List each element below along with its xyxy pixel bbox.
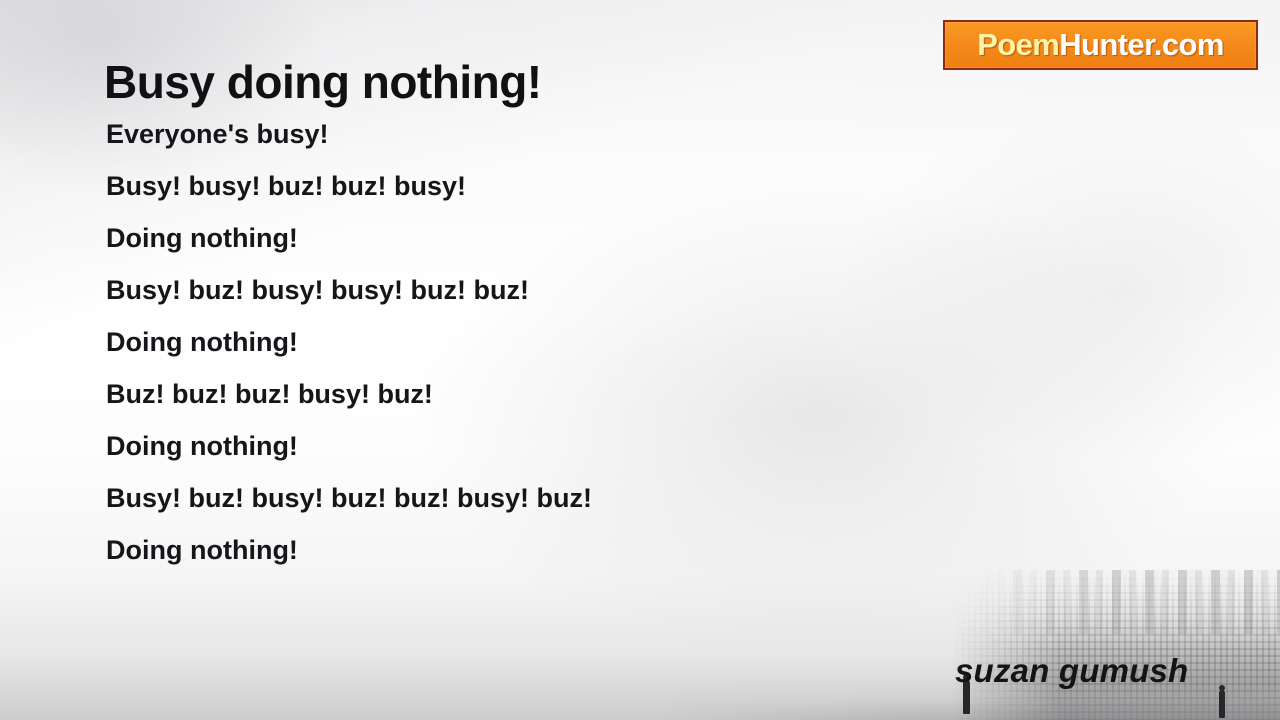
- poem-line: Doing nothing!: [106, 420, 866, 472]
- poem-line: Doing nothing!: [106, 524, 866, 576]
- poem-line: Busy! buz! busy! buz! buz! busy! buz!: [106, 472, 866, 524]
- poem-body: Everyone's busy! Busy! busy! buz! buz! b…: [106, 108, 866, 576]
- poem-line: Busy! buz! busy! busy! buz! buz!: [106, 264, 866, 316]
- poem-author: suzan gumush: [955, 652, 1188, 690]
- poem-line: Busy! busy! buz! buz! busy!: [106, 160, 866, 212]
- poem-line: Doing nothing!: [106, 316, 866, 368]
- logo-wordmark: PoemHunter.com: [977, 27, 1224, 63]
- poemhunter-logo[interactable]: PoemHunter.com: [943, 20, 1258, 70]
- poem-title: Busy doing nothing!: [104, 55, 542, 109]
- logo-text-poem: Poem: [977, 27, 1059, 62]
- logo-text-hunter: Hunter.com: [1059, 27, 1224, 62]
- poem-line: Buz! buz! buz! busy! buz!: [106, 368, 866, 420]
- poem-line: Doing nothing!: [106, 212, 866, 264]
- poem-line: Everyone's busy!: [106, 108, 866, 160]
- content-layer: PoemHunter.com Busy doing nothing! Every…: [0, 0, 1280, 720]
- poem-card: PoemHunter.com Busy doing nothing! Every…: [0, 0, 1280, 720]
